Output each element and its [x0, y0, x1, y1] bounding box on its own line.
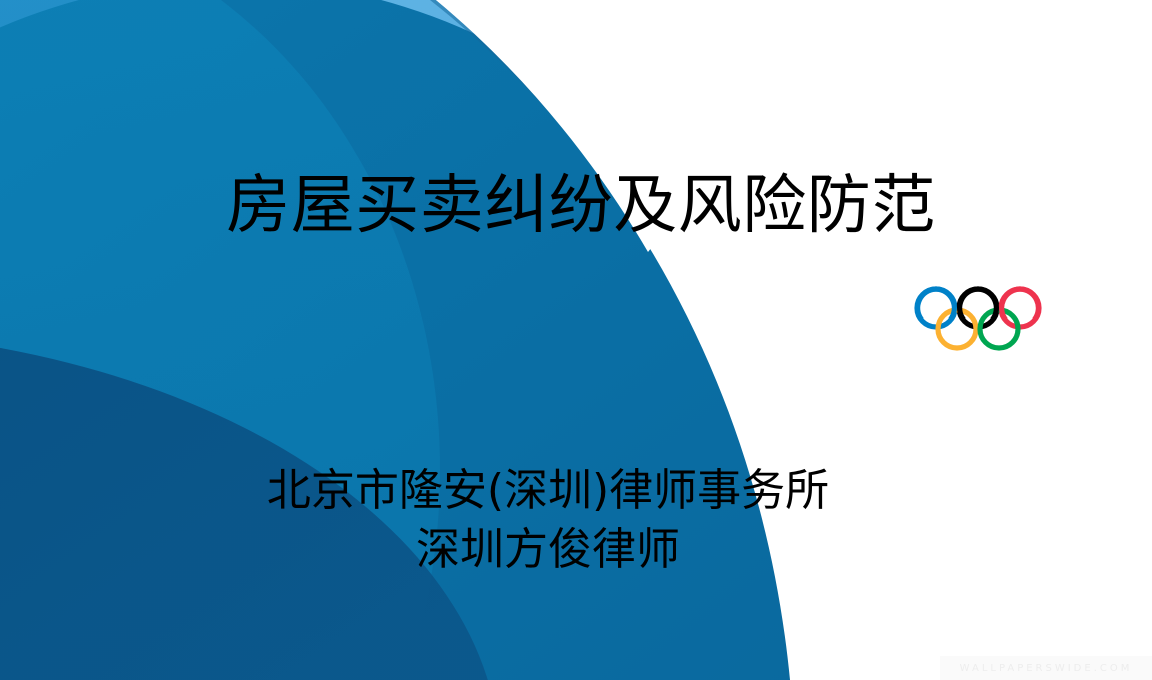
- presentation-slide: 房屋买卖纠纷及风险防范 北京市隆安(深圳)律师事务所 深圳方俊律师 WALLPA…: [0, 0, 1152, 680]
- watermark-text: WALLPAPERSWIDE.COM: [960, 663, 1133, 674]
- olympic-ring-yellow: [938, 310, 976, 348]
- slide-title: 房屋买卖纠纷及风险防范: [0, 172, 1152, 241]
- slide-subtitle-line-2: 深圳方俊律师: [0, 521, 1096, 580]
- slide-title-text: 房屋买卖纠纷及风险防范: [216, 172, 936, 241]
- olympic-ring-green: [980, 310, 1018, 348]
- watermark-badge: WALLPAPERSWIDE.COM: [940, 656, 1152, 680]
- slide-subtitle: 北京市隆安(深圳)律师事务所 深圳方俊律师: [0, 462, 1152, 580]
- slide-subtitle-line-1: 北京市隆安(深圳)律师事务所: [0, 462, 1096, 521]
- olympic-rings-icon: [912, 285, 1044, 353]
